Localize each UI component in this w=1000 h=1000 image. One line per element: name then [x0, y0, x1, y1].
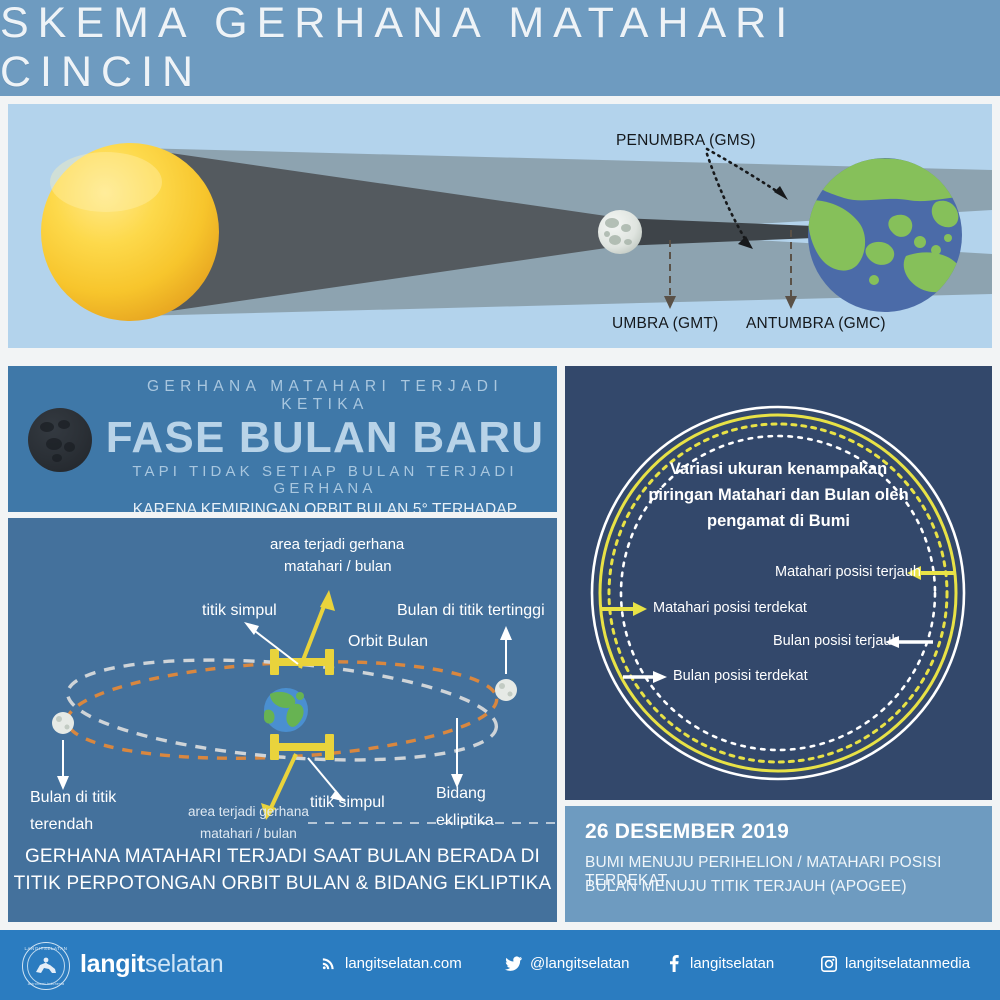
new-moon-headline: FASE BULAN BARU	[100, 415, 550, 461]
brand-wordmark[interactable]: langitselatan	[80, 950, 223, 979]
footer-link-instagram-label: langitselatanmedia	[845, 955, 970, 972]
moon-mare-1	[40, 422, 54, 432]
ecliptic-plane-label-line1: Bidang	[436, 785, 486, 803]
facebook-icon	[665, 955, 682, 972]
rss-icon	[320, 955, 337, 972]
orbit-diagram-panel: area terjadi gerhana matahari / bulan ti…	[8, 518, 557, 922]
apparent-size-title: Variasi ukuran kenampakan piringan Matah…	[605, 456, 952, 534]
new-moon-text-block: GERHANA MATAHARI TERJADI KETIKA FASE BUL…	[100, 378, 550, 512]
logo-seal-top-text: LANGITSELATAN	[23, 946, 69, 951]
twitter-icon	[505, 955, 522, 972]
moon-lowest-arrowhead	[57, 776, 69, 790]
apparent-size-title-line-2: piringan Matahari dan Bulan oleh	[605, 482, 952, 508]
logo-seal-bottom-text: Astronomi Indonesia	[23, 982, 69, 986]
antumbra-arrowhead	[785, 296, 797, 309]
moon-farthest-label: Bulan posisi terjauh	[773, 633, 900, 649]
node-bottom-label: titik simpul	[310, 794, 385, 812]
moon-nearest-label: Bulan posisi terdekat	[673, 668, 808, 684]
moon-highest-label: Bulan di titik tertinggi	[397, 602, 545, 620]
moon-marker-highest	[495, 679, 517, 701]
infographic-page: SKEMA GERHANA MATAHARI CINCIN	[0, 0, 1000, 1000]
apparent-size-panel: Variasi ukuran kenampakan piringan Matah…	[565, 366, 992, 800]
eclipse-area-top-label-line1: area terjadi gerhana	[270, 536, 404, 553]
apparent-size-svg	[565, 366, 992, 800]
eclipse-area-arrow-bottom	[270, 754, 296, 810]
shadow-cone-diagram: PENUMBRA (GMS) UMBRA (GMT) ANTUMBRA (GMC…	[8, 104, 992, 348]
moon-nearest-arrow	[623, 671, 667, 683]
new-moon-panel: GERHANA MATAHARI TERJADI KETIKA FASE BUL…	[8, 366, 557, 512]
moon-mare-5	[52, 454, 62, 462]
apparent-size-title-line-3: pengamat di Bumi	[605, 508, 952, 534]
sun-farthest-label: Matahari posisi terjauh	[775, 564, 921, 580]
new-moon-line-1: GERHANA MATAHARI TERJADI KETIKA	[100, 378, 550, 414]
moon-mare-2	[58, 420, 70, 429]
moon-highest-arrowhead	[500, 626, 512, 640]
header-bar: SKEMA GERHANA MATAHARI CINCIN	[0, 0, 1000, 96]
footer-link-instagram[interactable]: langitselatanmedia	[820, 955, 970, 972]
footer-link-twitter-label: @langitselatan	[530, 955, 629, 972]
brand-bold: langit	[80, 950, 145, 978]
footer-link-facebook[interactable]: langitselatan	[665, 955, 774, 972]
umbra-label: UMBRA (GMT)	[612, 315, 718, 333]
eclipse-area-bottom-label-line1: area terjadi gerhana	[188, 804, 309, 819]
moon-mare-3	[46, 438, 62, 450]
footer-link-twitter[interactable]: @langitselatan	[505, 955, 629, 972]
orbit-caption-line-1: GERHANA MATAHARI TERJADI SAAT BULAN BERA…	[8, 843, 557, 870]
new-moon-icon	[28, 408, 92, 472]
date-note-line-2: BULAN MENUJU TITIK TERJAUH (APOGEE)	[585, 878, 907, 896]
eclipse-area-bottom-label-line2: matahari / bulan	[200, 826, 297, 841]
node-bottom-leader	[308, 758, 338, 794]
moon-lowest-label-line1: Bulan di titik	[30, 789, 116, 807]
page-title: SKEMA GERHANA MATAHARI CINCIN	[0, 0, 1000, 96]
date-panel: 26 DESEMBER 2019 BUMI MENUJU PERIHELION …	[565, 806, 992, 922]
node-top-label: titik simpul	[202, 602, 277, 620]
moon-marker-lowest	[52, 712, 74, 734]
moon-orbit-label: Orbit Bulan	[348, 633, 428, 651]
moon-mare-4	[64, 442, 75, 452]
eclipse-area-top-label-line2: matahari / bulan	[284, 558, 392, 575]
footer-link-website-label: langitselatan.com	[345, 955, 462, 972]
antumbra-label: ANTUMBRA (GMC)	[746, 315, 886, 333]
new-moon-line-4: KARENA KEMIRINGAN ORBIT BULAN 5° TERHADA…	[100, 501, 550, 512]
footer-link-website[interactable]: langitselatan.com	[320, 955, 462, 972]
sun-body	[41, 143, 219, 321]
apparent-size-title-line-1: Variasi ukuran kenampakan	[605, 456, 952, 482]
new-moon-line-3: TAPI TIDAK SETIAP BULAN TERJADI GERHANA	[100, 463, 550, 497]
shadow-cone-svg	[8, 104, 992, 348]
brand-light: selatan	[145, 950, 224, 978]
moon-body	[598, 210, 642, 254]
langitselatan-logo[interactable]: LANGITSELATAN Astronomi Indonesia	[22, 942, 70, 990]
eclipse-area-arrow-top	[300, 601, 326, 668]
earth-small	[264, 688, 308, 732]
umbra-arrowhead	[664, 296, 676, 309]
ecliptic-plane-label-line2: ekliptika	[436, 812, 494, 830]
sun-nearest-label: Matahari posisi terdekat	[653, 600, 807, 616]
orbit-caption: GERHANA MATAHARI TERJADI SAAT BULAN BERA…	[8, 843, 557, 897]
date-heading: 26 DESEMBER 2019	[585, 820, 789, 844]
moon-lowest-label-line2: terendah	[30, 816, 93, 834]
instagram-icon	[820, 955, 837, 972]
logo-rider-icon	[33, 956, 59, 976]
orbit-caption-line-2: TITIK PERPOTONGAN ORBIT BULAN & BIDANG E…	[8, 870, 557, 897]
penumbra-label: PENUMBRA (GMS)	[616, 132, 756, 150]
footer-bar: LANGITSELATAN Astronomi Indonesia langit…	[0, 930, 1000, 1000]
footer-link-facebook-label: langitselatan	[690, 955, 774, 972]
